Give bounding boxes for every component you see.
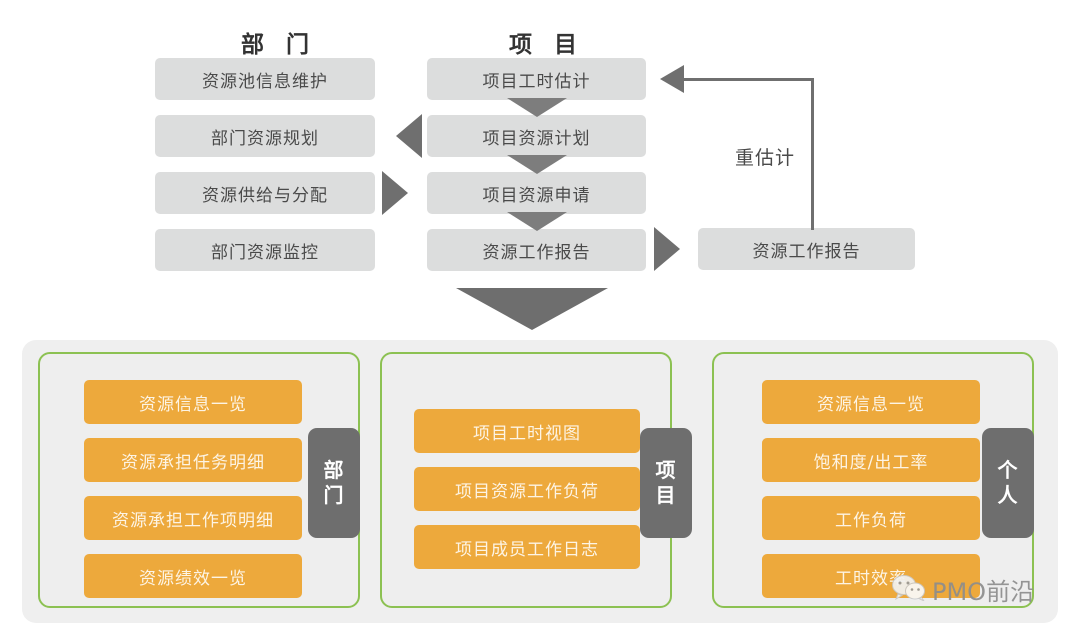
- flow-box-department-2[interactable]: 部门资源规划: [155, 115, 375, 157]
- panel-project-item-2[interactable]: 项目资源工作负荷: [414, 467, 640, 511]
- panel-tab-department-char-2: 门: [324, 483, 345, 508]
- panel-individual-item-1[interactable]: 资源信息一览: [762, 380, 980, 424]
- feedback-loop-arrowhead-icon: [660, 65, 684, 93]
- panel-department-item-4[interactable]: 资源绩效一览: [84, 554, 302, 598]
- flow-box-project-2[interactable]: 项目资源计划: [427, 115, 646, 157]
- arrow-left-icon-plan-to-department: [396, 114, 422, 158]
- panel-tab-individual-char-1: 个: [998, 458, 1019, 483]
- flow-box-project-1[interactable]: 项目工时估计: [427, 58, 646, 100]
- flow-box-department-3[interactable]: 资源供给与分配: [155, 172, 375, 214]
- column-header-department: 部 门: [200, 25, 350, 59]
- feedback-loop-label: 重估计: [735, 143, 795, 170]
- column-header-project: 项 目: [468, 25, 618, 59]
- panel-department-item-3[interactable]: 资源承担工作项明细: [84, 496, 302, 540]
- arrow-down-icon-project-1: [507, 98, 567, 117]
- panel-department-item-2[interactable]: 资源承担任务明细: [84, 438, 302, 482]
- panel-project-item-1[interactable]: 项目工时视图: [414, 409, 640, 453]
- wechat-icon: [892, 575, 926, 605]
- flow-box-project-3[interactable]: 项目资源申请: [427, 172, 646, 214]
- flow-box-project-4[interactable]: 资源工作报告: [427, 229, 646, 271]
- watermark-text: PMO前沿: [932, 572, 1034, 607]
- arrow-down-icon-project-2: [507, 155, 567, 174]
- panel-tab-individual-char-2: 人: [998, 483, 1019, 508]
- feedback-loop-horizontal-line: [680, 78, 814, 81]
- panel-tab-department-char-1: 部: [324, 458, 345, 483]
- flow-box-department-1[interactable]: 资源池信息维护: [155, 58, 375, 100]
- panel-tab-individual[interactable]: 个 人: [982, 428, 1034, 538]
- watermark: PMO前沿: [892, 572, 1034, 607]
- feedback-loop-vertical-line: [811, 78, 814, 230]
- panel-tab-project-char-2: 目: [656, 483, 677, 508]
- panel-individual-item-3[interactable]: 工作负荷: [762, 496, 980, 540]
- panel-tab-project-char-1: 项: [656, 458, 677, 483]
- panel-individual-item-2[interactable]: 饱和度/出工率: [762, 438, 980, 482]
- arrow-right-icon-report-to-rightbox: [654, 227, 680, 271]
- big-arrow-down-icon: [456, 288, 608, 330]
- panel-project: 项目工时视图 项目资源工作负荷 项目成员工作日志: [380, 352, 672, 608]
- panel-tab-project[interactable]: 项 目: [640, 428, 692, 538]
- flow-box-resource-work-report[interactable]: 资源工作报告: [698, 228, 915, 270]
- arrow-down-icon-project-3: [507, 212, 567, 231]
- panel-tab-department[interactable]: 部 门: [308, 428, 360, 538]
- flow-box-department-4[interactable]: 部门资源监控: [155, 229, 375, 271]
- diagram-canvas: 部 门 项 目 资源池信息维护 部门资源规划 资源供给与分配 部门资源监控 项目…: [0, 0, 1080, 639]
- arrow-right-icon-department-to-request: [382, 171, 408, 215]
- panel-project-item-3[interactable]: 项目成员工作日志: [414, 525, 640, 569]
- panel-department-item-1[interactable]: 资源信息一览: [84, 380, 302, 424]
